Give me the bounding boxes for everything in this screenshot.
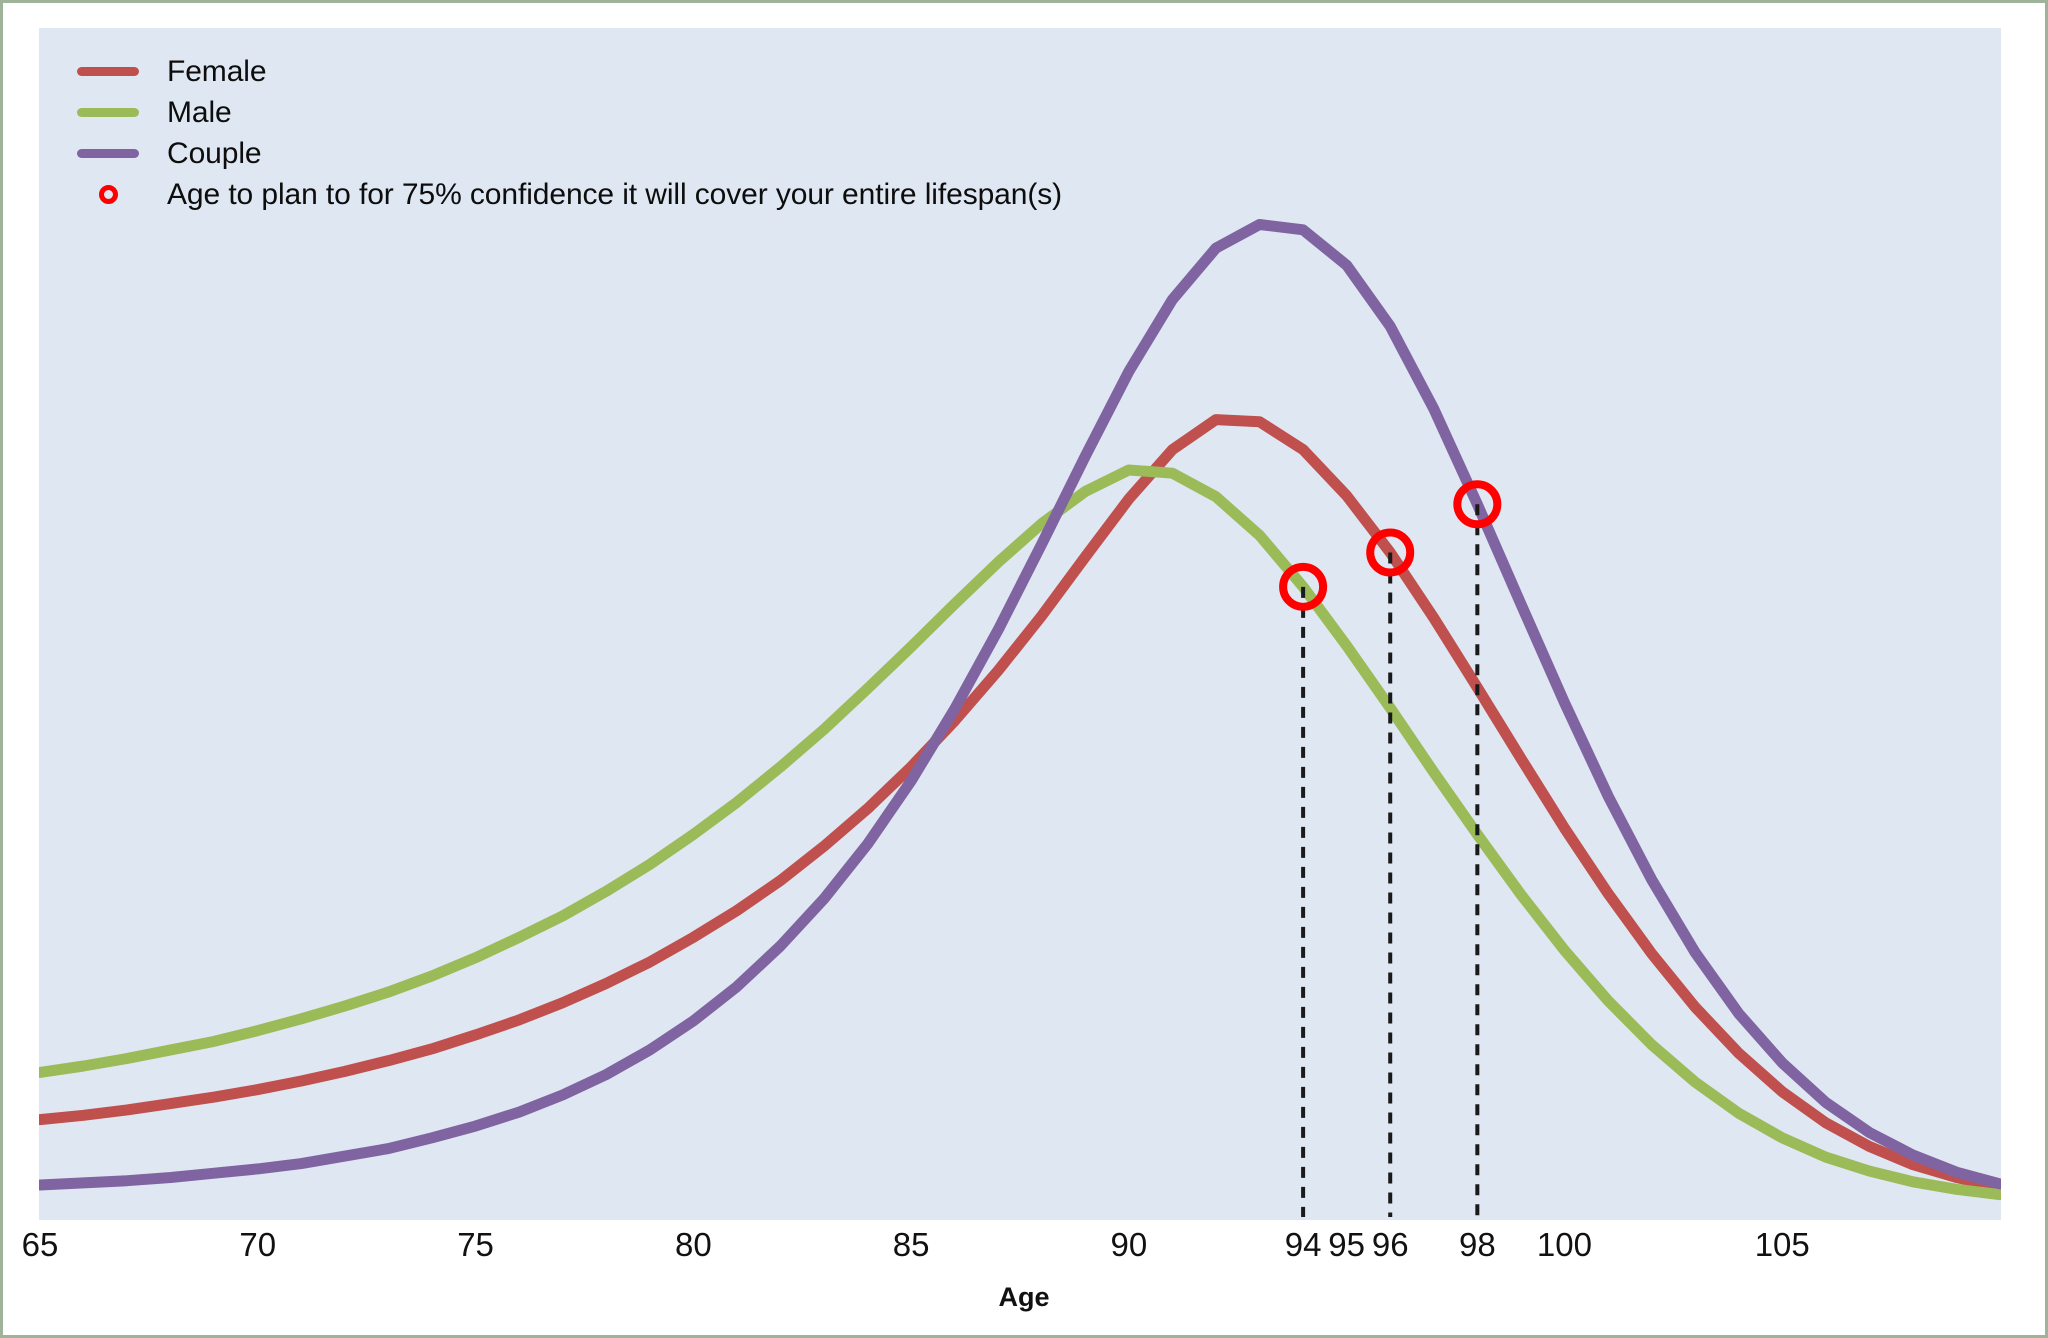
legend-item-confidence-marker[interactable]: Age to plan to for 75% confidence it wil… <box>47 174 1062 215</box>
legend-label-female: Female <box>167 55 266 89</box>
x-tick-label-100: 100 <box>1537 1226 1592 1264</box>
chart-screenshot: Female Male Couple Age to plan to for 75… <box>0 0 2048 1338</box>
legend-item-female[interactable]: Female <box>47 51 1062 92</box>
couple-line-swatch-icon <box>77 149 139 158</box>
legend-item-male[interactable]: Male <box>47 92 1062 133</box>
open-circle-marker-icon <box>77 185 139 204</box>
x-axis: Age 65707580859094959698100105 <box>11 1220 2037 1327</box>
legend-label-male: Male <box>167 96 232 130</box>
series-line-female <box>40 420 2000 1188</box>
chart-legend: Female Male Couple Age to plan to for 75… <box>47 51 1062 215</box>
red-ring-icon <box>99 185 118 204</box>
female-line-swatch-icon <box>77 67 139 76</box>
x-tick-label-94: 94 <box>1285 1226 1322 1264</box>
x-tick-label-96: 96 <box>1372 1226 1409 1264</box>
x-tick-label-98: 98 <box>1459 1226 1496 1264</box>
legend-label-confidence: Age to plan to for 75% confidence it wil… <box>167 178 1062 212</box>
chart-frame: Female Male Couple Age to plan to for 75… <box>11 11 2037 1327</box>
x-axis-title: Age <box>11 1282 2037 1313</box>
x-tick-label-85: 85 <box>893 1226 930 1264</box>
series-line-couple <box>40 224 2000 1185</box>
x-tick-label-95: 95 <box>1328 1226 1365 1264</box>
x-tick-label-70: 70 <box>239 1226 276 1264</box>
x-tick-label-90: 90 <box>1111 1226 1148 1264</box>
x-tick-label-65: 65 <box>22 1226 59 1264</box>
x-tick-label-105: 105 <box>1755 1226 1810 1264</box>
legend-item-couple[interactable]: Couple <box>47 133 1062 174</box>
x-tick-label-75: 75 <box>457 1226 494 1264</box>
x-tick-label-80: 80 <box>675 1226 712 1264</box>
legend-label-couple: Couple <box>167 137 261 171</box>
male-line-swatch-icon <box>77 108 139 117</box>
